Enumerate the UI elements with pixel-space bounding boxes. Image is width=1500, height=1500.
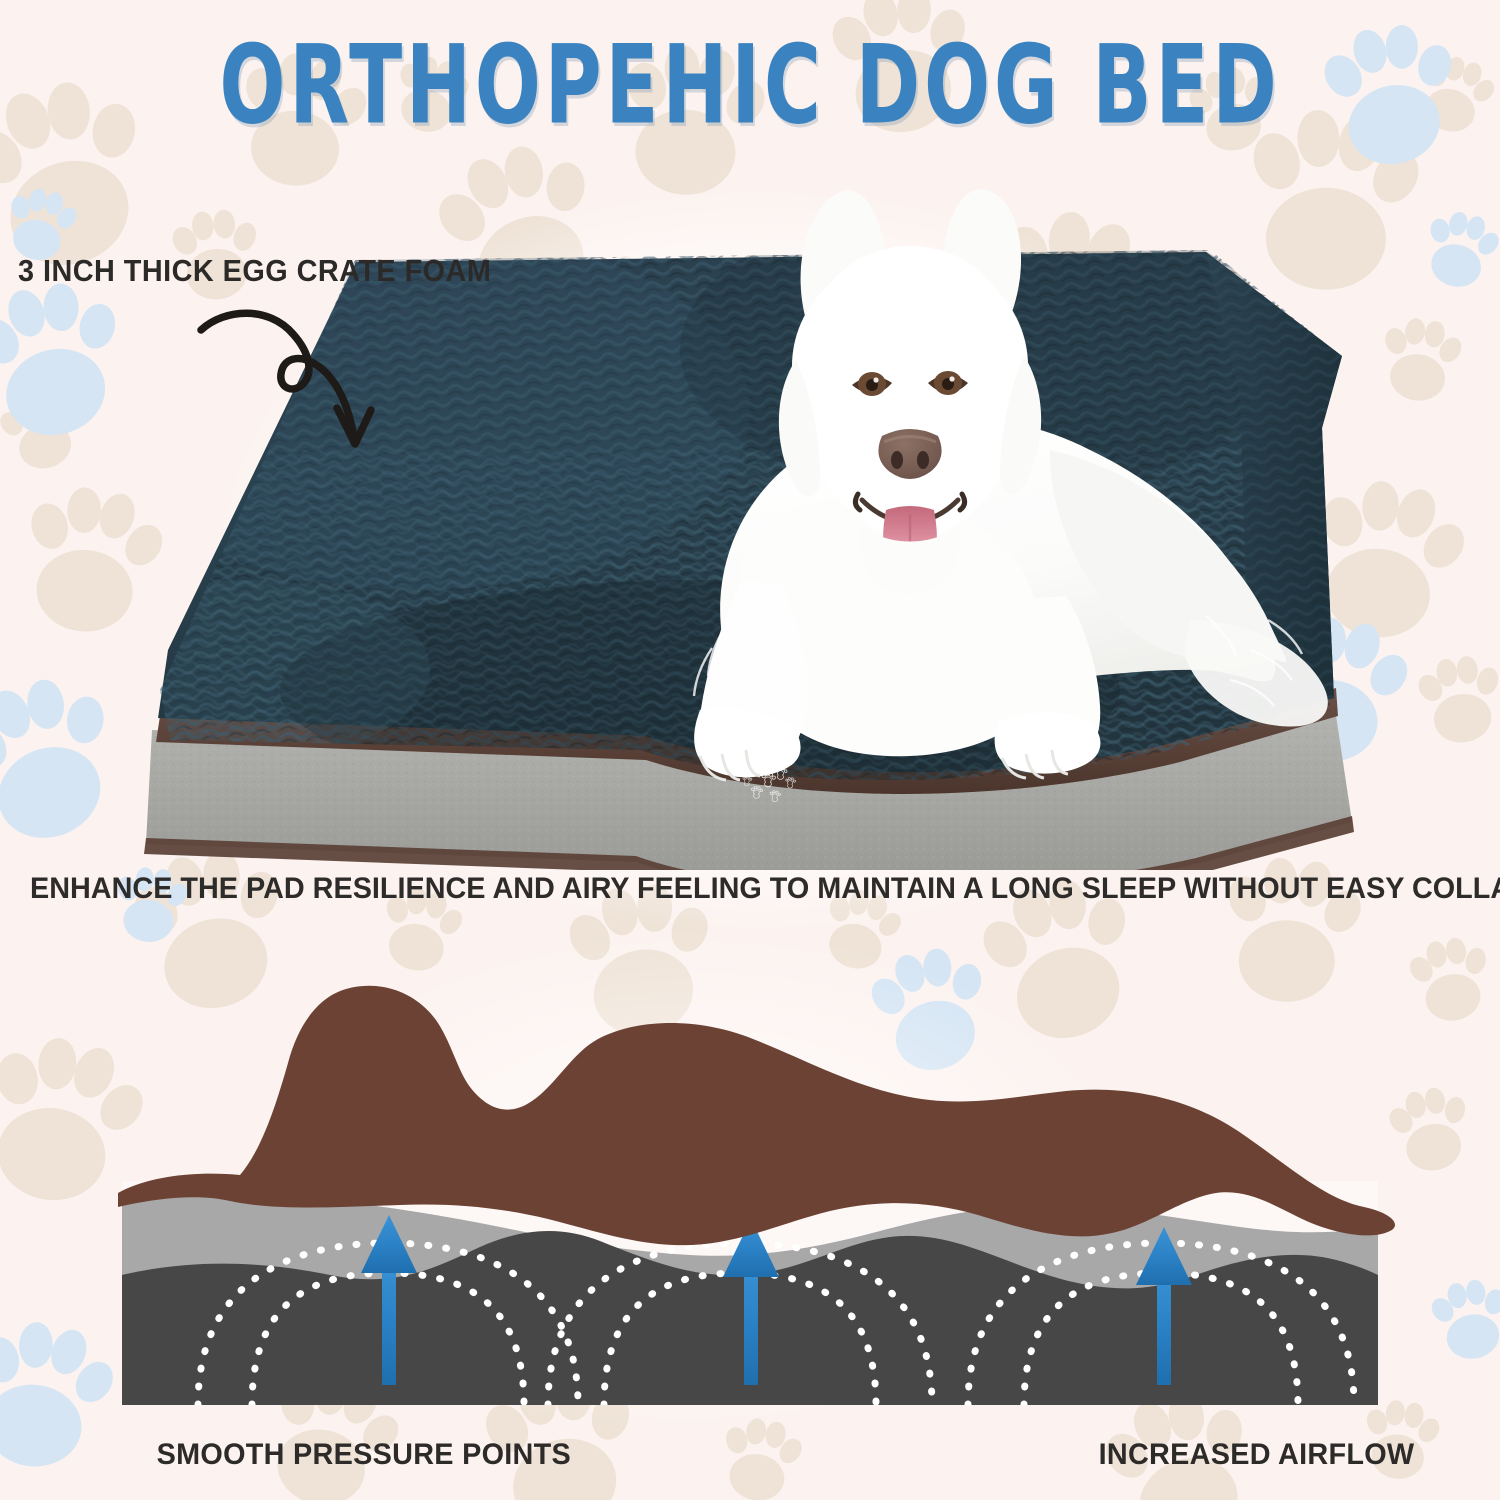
label-smooth-pressure-points: SMOOTH PRESSURE POINTS (157, 1438, 571, 1472)
callout-label: 3 INCH THICK EGG CRATE FOAM (18, 253, 491, 289)
label-increased-airflow: INCREASED AIRFLOW (1099, 1438, 1415, 1472)
page-title: ORTHOPEHIC DOG BED (45, 22, 1455, 148)
curved-loop-arrow-icon (185, 292, 405, 452)
foam-cross-section-diagram (0, 975, 1500, 1405)
product-benefit-caption: ENHANCE THE PAD RESILIENCE AND AIRY FEEL… (30, 872, 1470, 906)
infographic-canvas: ORTHOPEHIC DOG BED (0, 0, 1500, 1500)
